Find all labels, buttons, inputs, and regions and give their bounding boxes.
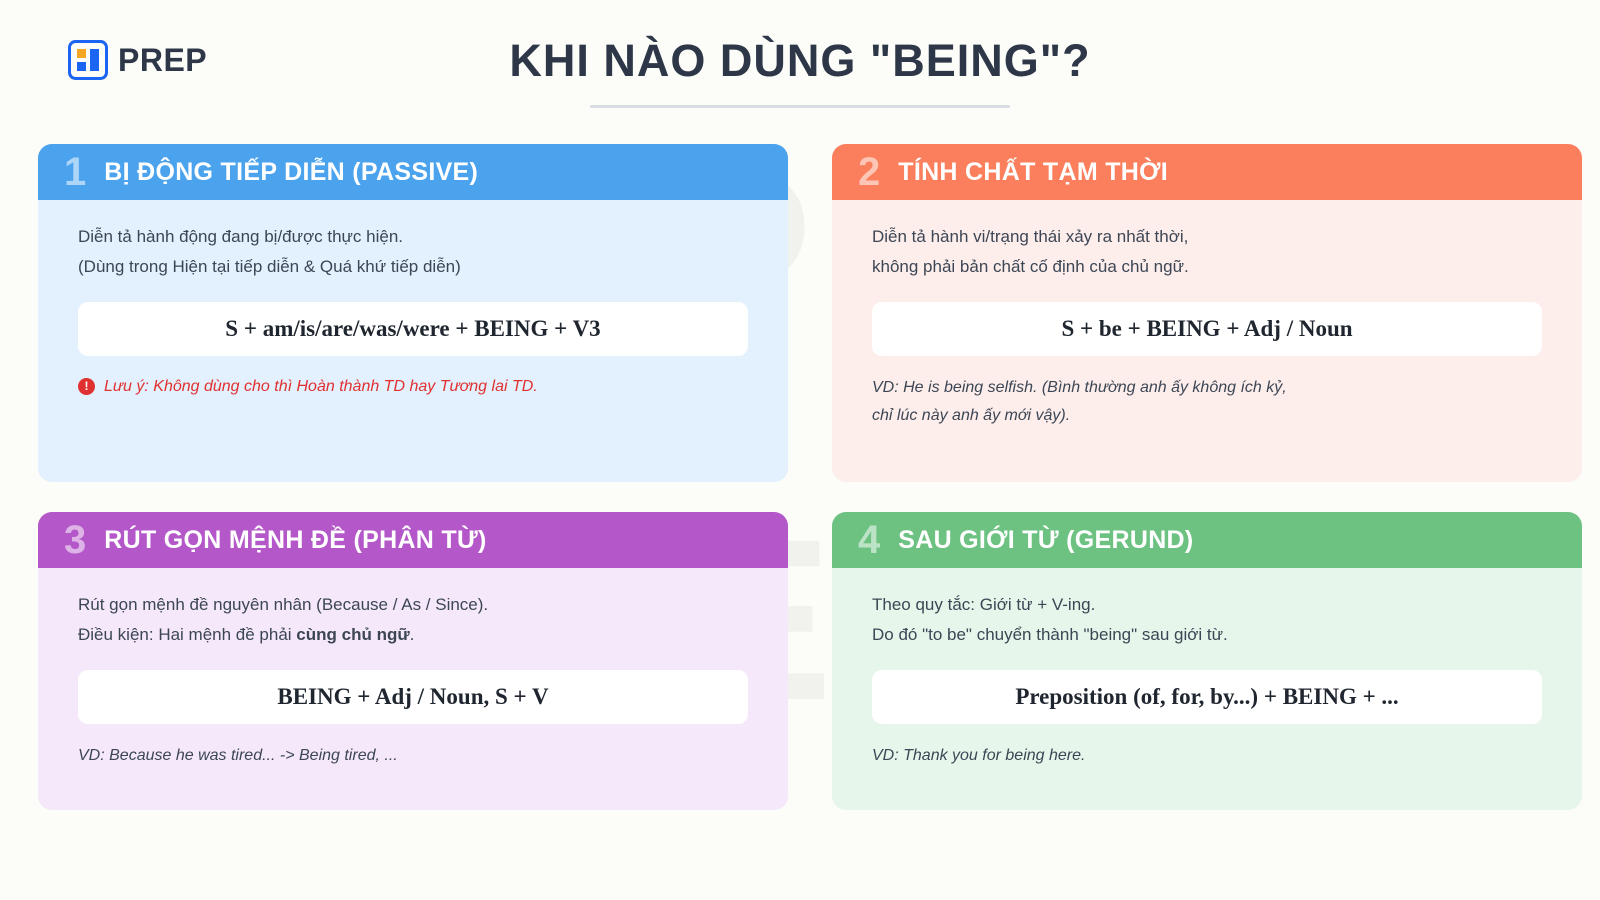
card-formula: BEING + Adj / Noun, S + V [78,670,748,724]
card-number: 1 [64,152,86,192]
page-header: PREP KHI NÀO DÙNG "BEING"? [0,0,1600,120]
card-title: RÚT GỌN MỆNH ĐỀ (PHÂN TỪ) [104,526,486,555]
card-example: VD: Because he was tired... -> Being tir… [78,742,748,770]
card-desc-line-2: (Dùng trong Hiện tại tiếp diễn & Quá khứ… [78,252,748,282]
card-number: 2 [858,152,880,192]
card-desc-line-2: không phải bản chất cố định của chủ ngữ. [872,252,1542,282]
cards-grid: 1 BỊ ĐỘNG TIẾP DIỄN (PASSIVE) Diễn tả hà… [0,120,1600,810]
card-body: Diễn tả hành vi/trạng thái xảy ra nhất t… [832,200,1582,482]
card-passive: 1 BỊ ĐỘNG TIẾP DIỄN (PASSIVE) Diễn tả hà… [38,144,788,482]
card-example-line-2: chỉ lúc này anh ấy mới vậy). [872,402,1542,430]
card-gerund: 4 SAU GIỚI TỪ (GERUND) Theo quy tắc: Giớ… [832,512,1582,810]
card-reduced-clause: 3 RÚT GỌN MỆNH ĐỀ (PHÂN TỪ) Rút gọn mệnh… [38,512,788,810]
card-desc-line-1: Theo quy tắc: Giới từ + V-ing. [872,590,1542,620]
page-title: KHI NÀO DÙNG "BEING"? [0,35,1600,87]
warning-icon: ! [78,378,95,395]
card-formula: S + am/is/are/was/were + BEING + V3 [78,302,748,356]
card-desc-line-2-text: Điều kiện: Hai mệnh đề phải [78,625,296,644]
card-note: ! Lưu ý: Không dùng cho thì Hoàn thành T… [78,374,748,400]
card-desc-line-2: Điều kiện: Hai mệnh đề phải cùng chủ ngữ… [78,620,748,650]
card-body: Diễn tả hành động đang bị/được thực hiện… [38,200,788,482]
card-number: 4 [858,520,880,560]
title-underline [590,105,1010,108]
card-header: 2 TÍNH CHẤT TẠM THỜI [832,144,1582,200]
card-desc-line-1: Rút gọn mệnh đề nguyên nhân (Because / A… [78,590,748,620]
card-body: Theo quy tắc: Giới từ + V-ing. Do đó "to… [832,568,1582,810]
card-desc-line-1: Diễn tả hành động đang bị/được thực hiện… [78,222,748,252]
card-title: TÍNH CHẤT TẠM THỜI [898,158,1168,187]
card-desc-line-2-bold: cùng chủ ngữ [296,625,409,644]
card-example-line-1: VD: He is being selfish. (Bình thường an… [872,374,1542,402]
card-temporary: 2 TÍNH CHẤT TẠM THỜI Diễn tả hành vi/trạ… [832,144,1582,482]
card-example: VD: Thank you for being here. [872,742,1542,770]
card-header: 4 SAU GIỚI TỪ (GERUND) [832,512,1582,568]
card-desc-line-2-tail: . [410,625,415,644]
card-title: SAU GIỚI TỪ (GERUND) [898,526,1193,555]
card-desc-line-2: Do đó "to be" chuyển thành "being" sau g… [872,620,1542,650]
card-header: 1 BỊ ĐỘNG TIẾP DIỄN (PASSIVE) [38,144,788,200]
card-formula: Preposition (of, for, by...) + BEING + .… [872,670,1542,724]
card-desc-line-1: Diễn tả hành vi/trạng thái xảy ra nhất t… [872,222,1542,252]
card-body: Rút gọn mệnh đề nguyên nhân (Because / A… [38,568,788,810]
card-header: 3 RÚT GỌN MỆNH ĐỀ (PHÂN TỪ) [38,512,788,568]
card-formula: S + be + BEING + Adj / Noun [872,302,1542,356]
card-note-text: Lưu ý: Không dùng cho thì Hoàn thành TD … [104,374,538,400]
card-title: BỊ ĐỘNG TIẾP DIỄN (PASSIVE) [104,158,478,187]
card-number: 3 [64,520,86,560]
